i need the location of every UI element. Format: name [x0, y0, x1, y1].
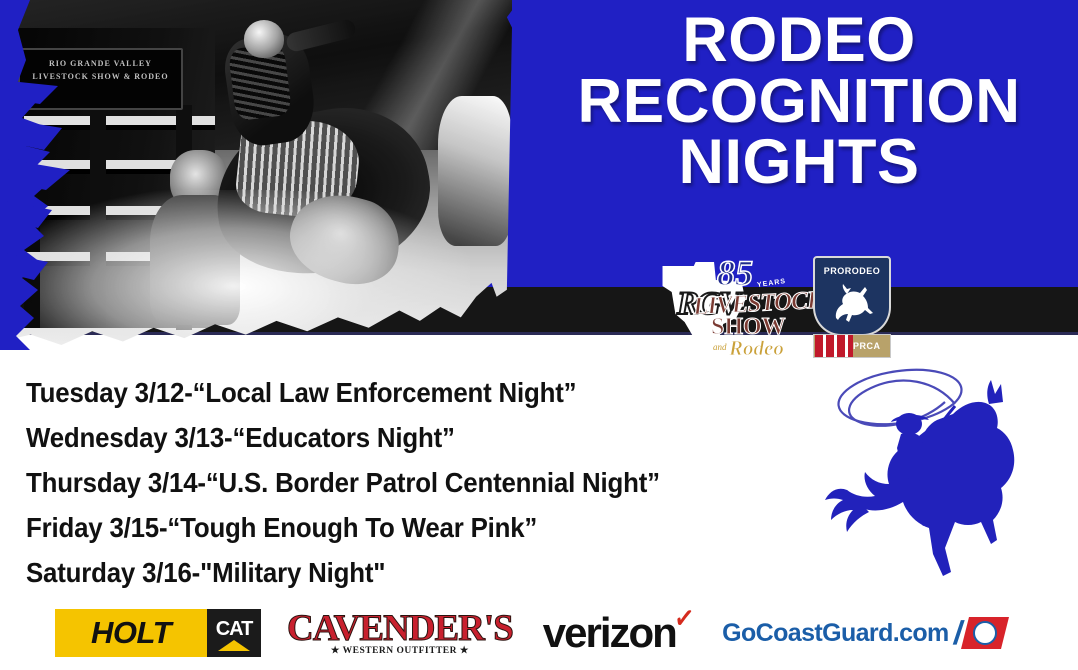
prca-red-bars [815, 335, 853, 357]
photo-dust-cloud [40, 190, 470, 345]
holt-wordmark: HOLT [91, 615, 171, 651]
photo-rider-helmet [244, 20, 284, 58]
title-line-3: NIGHTS [520, 132, 1078, 194]
sponsor-bar: HOLT CAT CAVENDER'S ★ WESTERN OUTFITTER … [0, 596, 1078, 670]
rodeo-photo: RIO GRANDE VALLEY LIVESTOCK SHOW & RODEO [0, 0, 512, 345]
cat-triangle-icon [218, 640, 250, 651]
rodeo-word: Rodeo [729, 336, 784, 361]
coast-guard-badge-icon [961, 617, 1009, 649]
list-item: Saturday 3/16-"Military Night" [26, 550, 806, 595]
photo-arena-banner: RIO GRANDE VALLEY LIVESTOCK SHOW & RODEO [18, 48, 183, 110]
photo-chute-post [8, 110, 24, 325]
title-line-1: RODEO [520, 10, 1078, 72]
bucking-horse-icon [829, 282, 877, 324]
cavenders-logo[interactable]: CAVENDER'S ★ WESTERN OUTFITTER ★ [287, 610, 513, 656]
list-item: Wednesday 3/13-“Educators Night” [26, 415, 806, 460]
prca-label: PRCA [853, 341, 881, 351]
coast-guard-seal-icon [973, 621, 997, 645]
cat-wordmark: CAT [216, 618, 253, 641]
verizon-logo[interactable]: verizon ✓ [543, 612, 700, 654]
list-item: Friday 3/15-“Tough Enough To Wear Pink” [26, 505, 806, 550]
cavenders-wordmark: CAVENDER'S [287, 610, 513, 648]
list-item: Tuesday 3/12-“Local Law Enforcement Nigh… [26, 370, 806, 415]
cat-logo-box: CAT [207, 609, 261, 657]
prca-prorodeo-logo: PRORODEO PRCA [813, 256, 891, 360]
and-word: and [713, 342, 727, 352]
logo-row: RGV 85 YEARS LIVESTOCK SHOW and Rodeo PR… [655, 252, 905, 364]
recognition-nights-list: Tuesday 3/12-“Local Law Enforcement Nigh… [26, 370, 856, 595]
years-label: YEARS [757, 278, 787, 289]
verizon-wordmark: verizon [543, 612, 676, 654]
holt-logo-box: HOLT [55, 609, 207, 657]
anniversary-85: 85 [717, 252, 753, 294]
poster-title: RODEO RECOGNITION NIGHTS [520, 10, 1078, 194]
verizon-check-icon: ✓ [672, 599, 695, 637]
holt-cat-logo[interactable]: HOLT CAT [55, 609, 261, 657]
title-line-2: RECOGNITION [520, 72, 1078, 133]
gocoastguard-wordmark: GoCoastGuard.com [722, 619, 949, 648]
prorodeo-label: PRORODEO [813, 266, 891, 276]
rgv-livestock-show-rodeo-logo: RGV 85 YEARS LIVESTOCK SHOW and Rodeo [655, 252, 805, 364]
gocoastguard-logo[interactable]: GoCoastGuard.com / [722, 614, 1005, 652]
list-item: Thursday 3/14-“U.S. Border Patrol Centen… [26, 460, 806, 505]
rodeo-recognition-nights-poster: RIO GRANDE VALLEY LIVESTOCK SHOW & RODEO… [0, 0, 1078, 670]
rodeo-photo-container: RIO GRANDE VALLEY LIVESTOCK SHOW & RODEO [0, 0, 512, 345]
